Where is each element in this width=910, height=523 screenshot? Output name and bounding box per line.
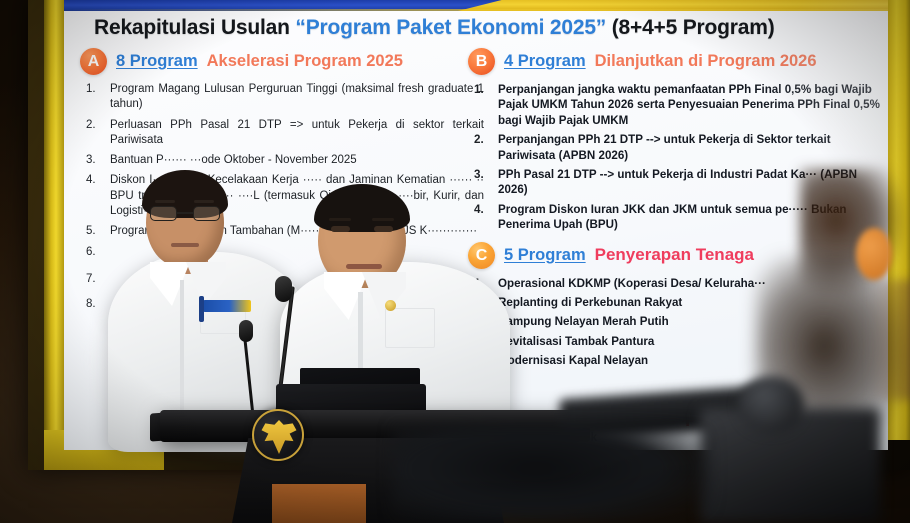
list-item-number: 5. xyxy=(86,224,106,239)
list-item-text: Revitalisasi Tambak Pantura xyxy=(498,335,654,348)
list-item-number: 2. xyxy=(474,132,494,147)
slide-column-left: A 8 Program Akselerasi Program 2025 1.Pr… xyxy=(80,48,484,315)
slide-top-decoration xyxy=(64,0,888,11)
list-item: 4.Revitalisasi Tambak Pantura xyxy=(472,334,884,349)
section-a-list: 1.Program Magang Lulusan Perguruan Tingg… xyxy=(84,82,484,310)
slide-title-part-1: Rekapitulasi Usulan xyxy=(94,16,295,39)
list-item: 5.Program ········ ······an Tambahan (M·… xyxy=(84,224,484,239)
section-header-a: A 8 Program Akselerasi Program 2025 xyxy=(80,48,484,75)
list-item: 8. xyxy=(84,297,484,310)
section-header-c: C 5 Program Penyerapan Tenaga xyxy=(468,242,884,269)
list-item: 6. xyxy=(84,245,484,258)
press-conference-scene: Rekapitulasi Usulan “Program Paket Ekono… xyxy=(0,0,910,523)
screen-frame-left-trim xyxy=(44,0,64,464)
topbar-gold-rule xyxy=(64,9,888,11)
list-item-number: 6. xyxy=(86,245,106,260)
list-item: 2.Replanting di Perkebunan Rakyat xyxy=(472,295,884,310)
list-item: 3.Bantuan P······ ···ode Oktober - Novem… xyxy=(84,153,484,168)
list-item: 4.Diskon I····· ····an Kecelakaan Kerja … xyxy=(84,173,484,219)
list-item: 3.PPh Pasal 21 DTP --> untuk Pekerja di … xyxy=(472,167,884,198)
list-item-number: 2. xyxy=(86,118,106,133)
list-item: 3.Kampung Nelayan Merah Putih xyxy=(472,314,884,329)
list-item-text: Kampung Nelayan Merah Putih xyxy=(498,315,669,328)
list-item: 4.Program Diskon Iuran JKK dan JKM untuk… xyxy=(472,202,884,233)
section-header-b: B 4 Program Dilanjutkan di Program 2026 xyxy=(468,48,884,75)
presentation-slide: Rekapitulasi Usulan “Program Paket Ekono… xyxy=(64,0,888,450)
list-item-number: 1. xyxy=(86,82,106,97)
list-item-number: 2. xyxy=(474,295,494,310)
list-item: 1.Program Magang Lulusan Perguruan Tingg… xyxy=(84,82,484,113)
list-item: 1.Operasional KDKMP (Koperasi Desa/ Kelu… xyxy=(472,276,884,291)
slide-banner-subline: Kesempatan k xyxy=(519,432,597,444)
section-badge-a: A xyxy=(80,48,107,75)
screen-frame-right-trim xyxy=(886,0,910,440)
section-c-title: Penyerapan Tenaga xyxy=(595,245,754,265)
list-item: 2.Perpanjangan PPh 21 DTP --> untuk Peke… xyxy=(472,132,884,163)
list-item-text: Perpanjangan PPh 21 DTP --> untuk Pekerj… xyxy=(498,133,831,161)
section-b-list: 1.Perpanjangan jangka waktu pemanfaatan … xyxy=(472,82,884,233)
list-item-text: Operasional KDKMP (Koperasi Desa/ Kelura… xyxy=(498,277,766,290)
list-item: 5.Modernisasi Kapal Nelayan xyxy=(472,353,884,368)
list-item-text: PPh Pasal 21 DTP --> untuk Pekerja di In… xyxy=(498,168,857,196)
section-c-list: 1.Operasional KDKMP (Koperasi Desa/ Kelu… xyxy=(472,276,884,369)
list-item: 2.Perluasan PPh Pasal 21 DTP => untuk Pe… xyxy=(84,118,484,149)
list-item-number: 7. xyxy=(86,272,106,287)
list-item-text: Replanting di Perkebunan Rakyat xyxy=(498,296,682,309)
list-item-text: Diskon I····· ····an Kecelakaan Kerja ··… xyxy=(110,174,484,217)
list-item-text: Program ········ ······an Tambahan (M···… xyxy=(110,225,477,237)
list-item-text: Bantuan P······ ···ode Oktober - Novembe… xyxy=(110,154,357,166)
slide-title-highlight: “Program Paket Ekonomi 2025” xyxy=(295,16,606,39)
list-item-number: 3. xyxy=(474,314,494,329)
section-b-count: 4 Program xyxy=(504,52,586,71)
slide-banner-headline: Penyerapan Likuiditas Rp xyxy=(462,406,697,428)
list-item-number: 1. xyxy=(474,276,494,291)
section-a-title: Akselerasi Program 2025 xyxy=(207,52,403,71)
slide-title-part-2: (8+4+5 Program) xyxy=(606,16,774,39)
list-item-text: Modernisasi Kapal Nelayan xyxy=(498,354,648,367)
list-item-number: 1. xyxy=(474,82,494,97)
list-item-number: 4. xyxy=(474,202,494,217)
list-item-text: Perluasan PPh Pasal 21 DTP => untuk Peke… xyxy=(110,119,484,146)
list-item: 1.Perpanjangan jangka waktu pemanfaatan … xyxy=(472,82,884,128)
list-item-number: 4. xyxy=(86,173,106,188)
section-a-count: 8 Program xyxy=(116,52,198,71)
list-item-number: 8. xyxy=(86,297,106,312)
list-item-number: 4. xyxy=(474,334,494,349)
list-item-text: Program Magang Lulusan Perguruan Tinggi … xyxy=(110,83,484,110)
list-item-number: 5. xyxy=(474,353,494,368)
podium-wood-panel xyxy=(272,484,366,523)
slide-title: Rekapitulasi Usulan “Program Paket Ekono… xyxy=(94,16,874,40)
slide-column-right: B 4 Program Dilanjutkan di Program 2026 … xyxy=(468,48,884,373)
list-item-number: 3. xyxy=(86,153,106,168)
list-item-text: Perpanjangan jangka waktu pemanfaatan PP… xyxy=(498,83,880,127)
list-item: 7. xyxy=(84,272,484,285)
list-item-text: Program Diskon Iuran JKK dan JKM untuk s… xyxy=(498,203,847,231)
section-b-title: Dilanjutkan di Program 2026 xyxy=(595,52,817,71)
section-c-count: 5 Program xyxy=(504,246,586,265)
list-item-number: 3. xyxy=(474,167,494,182)
section-badge-c: C xyxy=(468,242,495,269)
section-badge-b: B xyxy=(468,48,495,75)
